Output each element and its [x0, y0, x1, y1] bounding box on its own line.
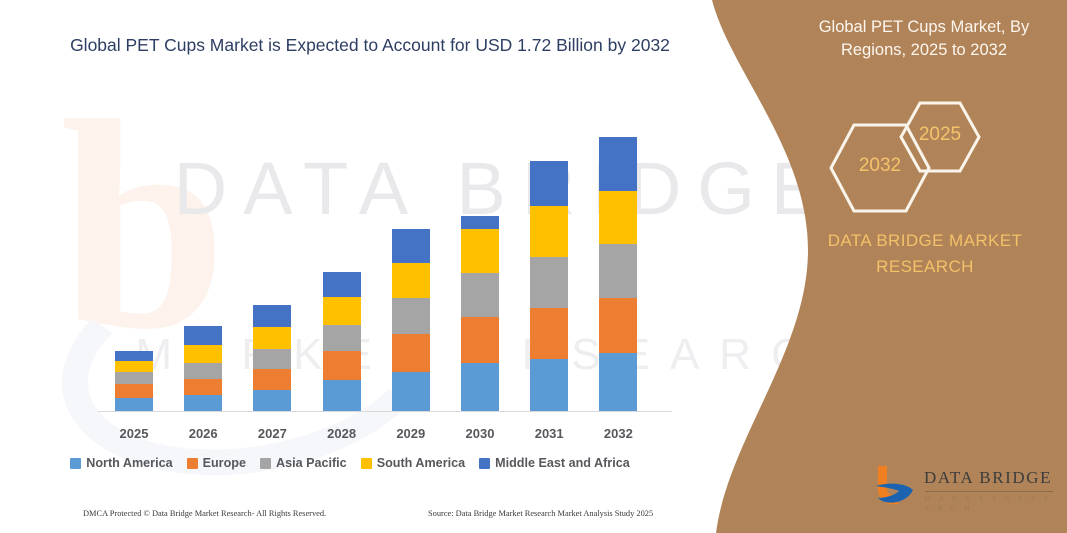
bar-segment — [392, 334, 430, 372]
bar-2028 — [323, 272, 361, 411]
bar-segment — [599, 353, 637, 411]
legend-swatch-icon — [70, 458, 81, 469]
bar-segment — [253, 305, 291, 327]
footer-copyright: DMCA Protected © Data Bridge Market Rese… — [83, 509, 326, 518]
bar-segment — [530, 308, 568, 359]
bar-segment — [115, 372, 153, 384]
legend-item[interactable]: North America — [70, 456, 172, 470]
bar-segment — [599, 191, 637, 244]
panel-title: Global PET Cups Market, By Regions, 2025… — [790, 16, 1058, 63]
legend-item[interactable]: South America — [361, 456, 465, 470]
footer-source: Source: Data Bridge Market Research Mark… — [428, 509, 653, 518]
bar-segment — [323, 272, 361, 297]
chart-legend: North AmericaEuropeAsia PacificSouth Ame… — [0, 456, 700, 470]
bar-segment — [530, 257, 568, 308]
bar-2029 — [392, 229, 430, 411]
x-axis-line — [98, 411, 672, 412]
bar-segment — [253, 369, 291, 390]
x-label-2028: 2028 — [312, 426, 372, 441]
bar-segment — [599, 298, 637, 353]
bar-segment — [530, 206, 568, 257]
legend-label: Europe — [203, 456, 246, 470]
bar-segment — [115, 351, 153, 361]
infographic-canvas: b DATA BRIDGE MARKET RESEARCH Global PET… — [0, 0, 1067, 533]
legend-item[interactable]: Asia Pacific — [260, 456, 347, 470]
bar-2032 — [599, 137, 637, 411]
bar-segment — [599, 137, 637, 191]
bar-segment — [530, 161, 568, 206]
bar-segment — [115, 398, 153, 411]
bar-segment — [323, 297, 361, 325]
x-label-2026: 2026 — [173, 426, 233, 441]
bar-segment — [599, 244, 637, 298]
bar-segment — [392, 263, 430, 298]
x-label-2025: 2025 — [104, 426, 164, 441]
bar-segment — [461, 317, 499, 363]
bar-segment — [323, 325, 361, 351]
bar-segment — [184, 363, 222, 379]
bar-segment — [184, 379, 222, 395]
logo-mark-icon — [872, 464, 918, 508]
bar-segment — [184, 345, 222, 363]
legend-item[interactable]: Europe — [187, 456, 246, 470]
legend-label: South America — [377, 456, 465, 470]
x-label-2027: 2027 — [242, 426, 302, 441]
bar-segment — [392, 298, 430, 334]
bar-2026 — [184, 326, 222, 411]
company-logo: DATA BRIDGE M A R K E T R E S E A R C H — [872, 462, 1062, 510]
legend-swatch-icon — [361, 458, 372, 469]
bar-segment — [461, 273, 499, 317]
bar-segment — [253, 349, 291, 369]
bar-segment — [530, 359, 568, 411]
logo-text: DATA BRIDGE M A R K E T R E S E A R C H — [924, 468, 1062, 512]
bar-segment — [323, 351, 361, 380]
bar-2031 — [530, 161, 568, 411]
stacked-bar-chart — [0, 0, 700, 420]
bar-2027 — [253, 305, 291, 411]
bar-segment — [461, 363, 499, 411]
x-label-2030: 2030 — [450, 426, 510, 441]
logo-divider — [925, 491, 1053, 492]
bar-segment — [392, 372, 430, 411]
legend-label: Middle East and Africa — [495, 456, 630, 470]
bar-2025 — [115, 351, 153, 411]
bar-segment — [461, 229, 499, 273]
legend-swatch-icon — [187, 458, 198, 469]
x-label-2029: 2029 — [381, 426, 441, 441]
bar-2030 — [461, 216, 499, 411]
x-label-2031: 2031 — [519, 426, 579, 441]
hexagon-2025: 2025 — [898, 100, 982, 174]
hexagon-group: 2032 2025 — [820, 100, 1020, 210]
legend-label: North America — [86, 456, 172, 470]
bar-segment — [115, 384, 153, 398]
bar-segment — [184, 326, 222, 345]
bar-segment — [461, 216, 499, 229]
bar-segment — [184, 395, 222, 411]
legend-swatch-icon — [260, 458, 271, 469]
logo-tagline: M A R K E T R E S E A R C H — [924, 494, 1062, 512]
bar-segment — [392, 229, 430, 263]
legend-label: Asia Pacific — [276, 456, 347, 470]
bar-segment — [253, 390, 291, 411]
bar-segment — [115, 361, 153, 372]
bar-segment — [253, 327, 291, 349]
legend-item[interactable]: Middle East and Africa — [479, 456, 630, 470]
bar-segment — [323, 380, 361, 411]
legend-swatch-icon — [479, 458, 490, 469]
logo-title: DATA BRIDGE — [924, 468, 1062, 488]
brand-name: DATA BRIDGE MARKET RESEARCH — [800, 228, 1050, 281]
x-label-2032: 2032 — [588, 426, 648, 441]
hexagon-2025-label: 2025 — [898, 124, 982, 146]
